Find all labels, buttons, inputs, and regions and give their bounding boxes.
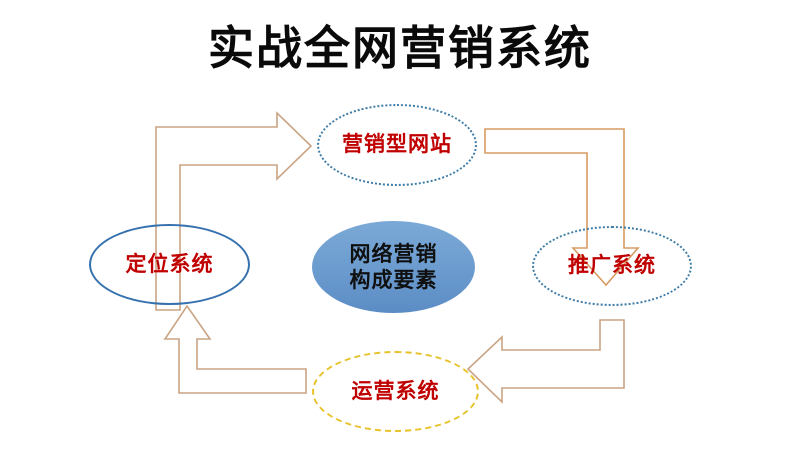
arrow-right-to-bottom [468,320,624,402]
node-bottom-operation-system[interactable]: 运营系统 [312,351,479,432]
node-top-marketing-website[interactable]: 营销型网站 [317,104,477,186]
node-top-label: 营销型网站 [342,132,452,158]
arrow-bottom-to-left [165,306,306,393]
slide-canvas: 实战全网营销系统 营销型网站 推广系统 运营系统 定位系统 网络营销 构成要素 [0,0,800,450]
node-center-label-line1: 网络营销 [350,241,438,267]
node-right-label: 推广系统 [568,253,656,279]
node-center-text: 网络营销 构成要素 [350,241,438,293]
node-left-label: 定位系统 [126,252,214,278]
node-left-positioning-system[interactable]: 定位系统 [89,224,250,305]
node-center-label-line2: 构成要素 [350,267,438,293]
node-bottom-label: 运营系统 [352,379,440,405]
node-center-core[interactable]: 网络营销 构成要素 [312,221,475,313]
node-right-promotion-system[interactable]: 推广系统 [532,226,692,306]
